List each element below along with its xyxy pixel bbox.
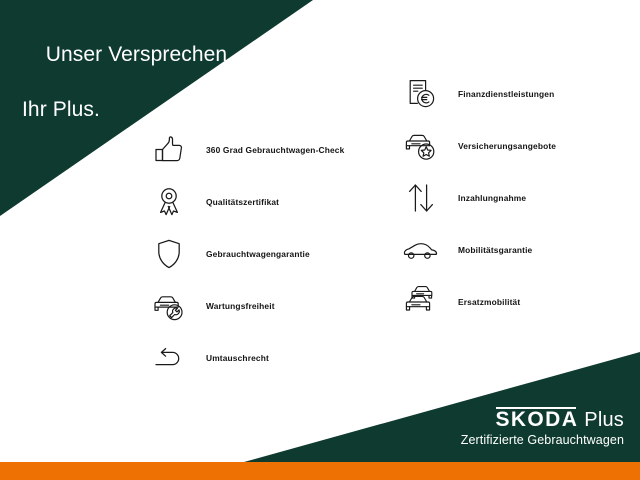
feature-list-right: Finanzdienstleistungen Versicherungsange… (398, 68, 556, 328)
feature-label: Ersatzmobilität (458, 297, 520, 307)
u-turn-arrow-icon (146, 335, 192, 381)
two-cars-icon (398, 279, 444, 325)
feature-label: Gebrauchtwagengarantie (206, 249, 310, 259)
car-wrench-icon (146, 283, 192, 329)
brand-lockup: SKODA Plus Zertifizierte Gebrauchtwagen (461, 408, 624, 447)
promo-banner: Unser Versprechen. Ihr Plus. 360 Grad Ge… (0, 0, 640, 480)
feature-item: Qualitätszertifikat (146, 176, 344, 228)
feature-item: Ersatzmobilität (398, 276, 556, 328)
skoda-wordmark: SKODA (495, 408, 578, 432)
shield-icon (146, 231, 192, 277)
feature-label: Qualitätszertifikat (206, 197, 279, 207)
feature-label: Inzahlungnahme (458, 193, 526, 203)
feature-label: Umtauschrecht (206, 353, 269, 363)
feature-label: Mobilitätsgarantie (458, 245, 532, 255)
rosette-award-icon (146, 179, 192, 225)
feature-item: Inzahlungnahme (398, 172, 556, 224)
headline-line-1: Unser Versprechen. (46, 43, 233, 66)
feature-label: 360 Grad Gebrauchtwagen-Check (206, 145, 344, 155)
headline-line-2: Ihr Plus. (22, 96, 233, 123)
skoda-caron-s: SKODA (495, 408, 578, 432)
brand-subline: Zertifizierte Gebrauchtwagen (461, 433, 624, 447)
feature-list-left: 360 Grad Gebrauchtwagen-Check Qualitätsz… (146, 124, 344, 384)
feature-item: Gebrauchtwagengarantie (146, 228, 344, 280)
feature-item: Finanzdienstleistungen (398, 68, 556, 120)
car-side-icon (398, 227, 444, 273)
brand-suffix: Plus (584, 409, 624, 432)
car-star-icon (398, 123, 444, 169)
feature-label: Versicherungsangebote (458, 141, 556, 151)
feature-item: Wartungsfreiheit (146, 280, 344, 332)
feature-label: Finanzdienstleistungen (458, 89, 554, 99)
feature-item: Versicherungsangebote (398, 120, 556, 172)
feature-item: Mobilitätsgarantie (398, 224, 556, 276)
orange-base-stripe (0, 462, 640, 480)
brand-primary-row: SKODA Plus (461, 408, 624, 432)
document-euro-icon (398, 71, 444, 117)
feature-item: 360 Grad Gebrauchtwagen-Check (146, 124, 344, 176)
up-down-arrows-icon (398, 175, 444, 221)
feature-label: Wartungsfreiheit (206, 301, 275, 311)
thumbs-up-icon (146, 127, 192, 173)
feature-item: Umtauschrecht (146, 332, 344, 384)
